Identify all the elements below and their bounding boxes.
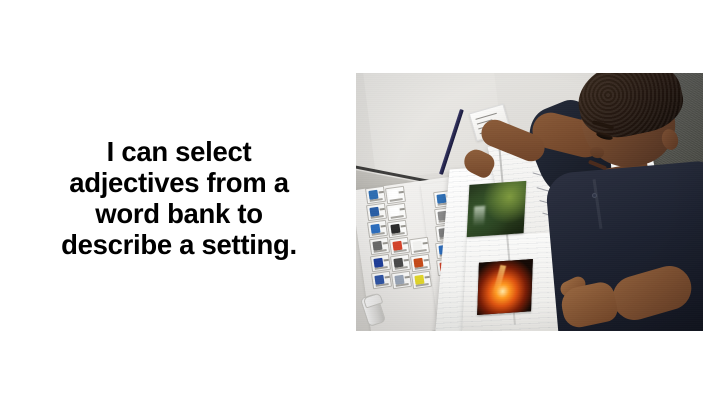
card-word-label bbox=[399, 191, 405, 194]
word-bank-card bbox=[386, 203, 407, 221]
card-word-label bbox=[405, 276, 411, 279]
slide-canvas: I can select adjectives from a word bank… bbox=[0, 0, 720, 405]
card-caption-line bbox=[393, 249, 406, 253]
word-bank-card bbox=[387, 220, 408, 238]
word-bank-card bbox=[366, 203, 387, 221]
word-bank-card bbox=[367, 220, 388, 238]
card-word-label bbox=[423, 259, 429, 262]
card-word-label bbox=[383, 259, 389, 262]
learning-objective-text: I can select adjectives from a word bank… bbox=[18, 136, 340, 260]
card-caption-line bbox=[372, 232, 385, 236]
word-bank-card bbox=[385, 186, 406, 204]
card-caption-line bbox=[394, 266, 407, 270]
objective-line-3: word bank to bbox=[18, 198, 340, 229]
card-word-label bbox=[401, 225, 407, 228]
card-caption-line bbox=[371, 215, 384, 219]
card-caption-line bbox=[392, 232, 405, 236]
card-word-label bbox=[400, 208, 406, 211]
card-caption-line bbox=[414, 266, 427, 270]
polo-button bbox=[592, 193, 597, 198]
card-caption-line bbox=[370, 198, 383, 202]
word-bank-card bbox=[371, 271, 392, 289]
card-word-label bbox=[381, 225, 387, 228]
objective-line-4: describe a setting. bbox=[18, 229, 340, 260]
volcano-photo-in-book bbox=[477, 259, 533, 315]
word-bank-card bbox=[409, 237, 430, 255]
word-bank-card bbox=[410, 254, 431, 272]
word-bank-card bbox=[391, 271, 412, 289]
card-word-label bbox=[382, 242, 388, 245]
word-bank-card bbox=[369, 237, 390, 255]
card-word-label bbox=[425, 276, 431, 279]
card-caption-line bbox=[396, 283, 409, 287]
forest-photo-in-book bbox=[467, 181, 527, 237]
card-caption-line bbox=[413, 249, 426, 253]
card-caption-line bbox=[374, 266, 387, 270]
card-word-label bbox=[379, 191, 385, 194]
word-bank-card bbox=[370, 254, 391, 272]
word-bank-card bbox=[389, 237, 410, 255]
word-bank-card bbox=[411, 271, 432, 289]
card-word-label bbox=[403, 259, 409, 262]
card-word-label bbox=[380, 208, 386, 211]
objective-line-1: I can select bbox=[18, 136, 340, 167]
card-word-label bbox=[422, 242, 428, 245]
card-caption-line bbox=[373, 249, 386, 253]
card-caption-line bbox=[390, 198, 403, 202]
card-word-label bbox=[385, 276, 391, 279]
card-word-label bbox=[402, 242, 408, 245]
card-caption-line bbox=[391, 215, 404, 219]
classroom-photo bbox=[356, 73, 703, 331]
word-bank-card bbox=[365, 186, 386, 204]
word-bank-card bbox=[390, 254, 411, 272]
card-caption-line bbox=[376, 283, 389, 287]
card-caption-line bbox=[416, 283, 429, 287]
objective-line-2: adjectives from a bbox=[18, 167, 340, 198]
